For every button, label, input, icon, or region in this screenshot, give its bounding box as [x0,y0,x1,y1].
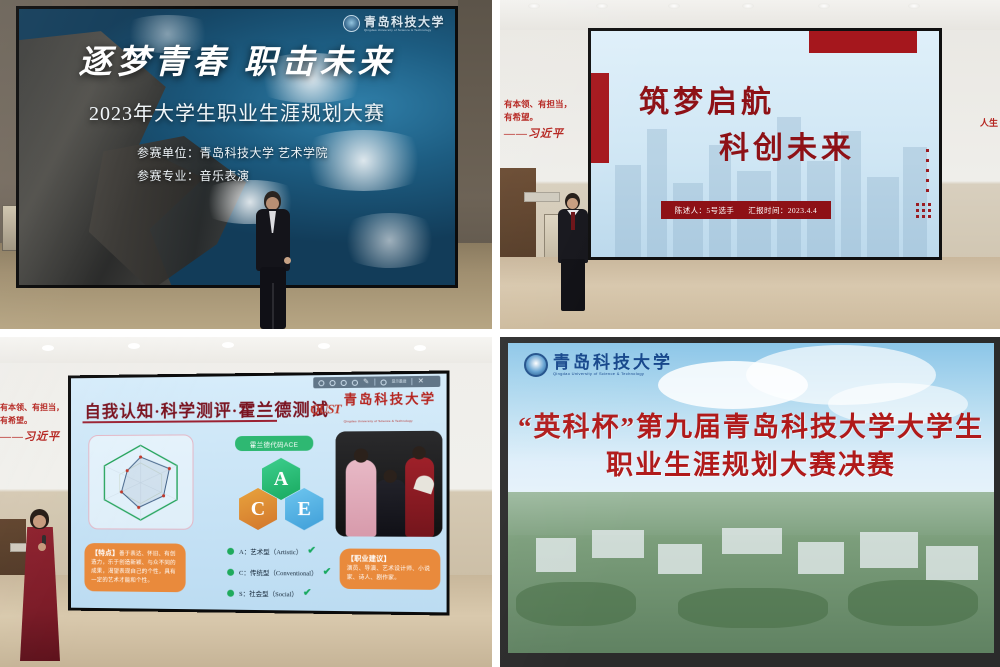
bullet-dot-icon [227,589,234,596]
bullet-dot-icon [227,547,234,554]
list-item: S：社会型（Social） ✔ [227,588,378,600]
person-face [567,198,578,209]
slide4-title-line1: “英科杯”第九届青岛科技大学大学生 [508,405,994,444]
performer-red [405,457,434,537]
wall-quote-left: 有本领、有担当， 有希望。 ——习近平 [504,98,586,141]
finalists-lineup [508,493,994,653]
performer-pink [346,460,377,537]
career-text: 演员、导演、艺术设计师、小说家、诗人、剧作家。 [347,566,430,582]
wall-quote-line1: 有本领、有担当， [504,99,572,109]
wall-quote-signature: ——习近平 [0,431,70,444]
toolbar-divider [374,379,375,386]
slide1-major-line: 参赛专业：音乐表演 [137,167,250,184]
radar-svg [89,435,192,529]
ace-code-badge: 霍兰德代码ACE [235,436,313,451]
slide3-title: 自我认知·科学测评·霍兰德测试 [84,395,328,422]
decorative-dot-grid [913,149,931,229]
university-crest-icon [524,353,548,377]
traits-box: 【特点】善于表达、怀旧、有创造力，乐于创造新颖、与众不同的成果，渴望表现自己的个… [84,543,185,592]
person-leg-gap [272,283,274,329]
photo-collage: 青岛科技大学 Qingdao University of Science & T… [0,0,1000,667]
ace-hexagon-group: A C E [235,458,327,535]
university-crest-icon [343,15,360,32]
wall-quote-line1: 有本领、有担当， [0,403,64,412]
zoom-out-icon[interactable] [318,380,324,386]
panel-bottom-right[interactable]: 青岛科技大学 Qingdao University of Science & T… [500,337,1000,667]
decorative-red-block-top [809,31,917,53]
slide2-title-line2: 科创未来 [719,123,855,167]
wall-quote-line2: 有希望。 [0,416,32,425]
zoom-in-icon[interactable] [329,380,335,386]
check-icon: ✔ [303,588,311,598]
slide2-speaker: 陈述人：5号选手 [675,205,734,216]
university-logo-slide1: 青岛科技大学 Qingdao University of Science & T… [343,15,445,32]
slide2-info-bar: 陈述人：5号选手 汇报时间：2023.4.4 [661,201,831,219]
performer-dark [376,480,405,537]
panel-top-right[interactable]: 有本领、有担当， 有希望。 ——习近平 人生 筑梦启航 科创未来 [500,0,1000,329]
slide1-subtitle: 2023年大学生职业生涯规划大赛 [19,97,455,126]
university-logo-slide4: 青岛科技大学 Qingdao University of Science & T… [524,353,673,377]
timer-icon[interactable] [380,379,386,385]
panel-bottom-left[interactable]: 有本领、有担当， 有希望。 ——习近平 ✎ 显示墨迹 ✕ 自我认知·科学测评·霍… [0,337,492,667]
toolbar-label: 显示墨迹 [392,379,407,384]
led-screen-4: 青岛科技大学 Qingdao University of Science & T… [508,343,994,653]
panel-top-left[interactable]: 青岛科技大学 Qingdao University of Science & T… [0,0,492,329]
presenter-person-2 [556,193,590,311]
pen-icon[interactable]: ✎ [363,379,369,386]
person-hand [284,257,291,264]
decorative-red-block-left [591,73,609,163]
career-heading: 【职业建议】 [347,555,391,563]
career-advice-box: 【职业建议】演员、导演、艺术设计师、小说家、诗人、剧作家。 [340,549,441,590]
slide1-unit-line: 参赛单位：青岛科技大学 艺术学院 [137,144,328,161]
logo-mark: QUST [310,401,340,417]
logo-text-en: Qingdao University of Science & Technolo… [344,419,413,424]
wall-quote-right: 人生 [980,116,998,129]
person-hand [38,543,46,551]
person-tie [571,212,575,230]
holland-label: S：社会型（Social） [239,588,298,599]
university-logo-slide3: QUST 青岛科技大学 Qingdao University of Scienc… [310,390,436,428]
wall-plate [524,192,560,202]
wall-quote-signature: ——习近平 [504,128,586,141]
check-icon: ✔ [323,568,332,578]
logo-text-cn: 青岛科技大学 [364,16,445,28]
slide2-time: 汇报时间：2023.4.4 [748,205,817,216]
ceiling-lights [500,3,1000,13]
led-screen-1: 青岛科技大学 Qingdao University of Science & T… [16,6,458,288]
fit-icon[interactable] [352,379,358,385]
holland-label: A：艺术型（Artistic） [239,546,302,556]
slide4-title-line2: 职业生涯规划大赛决赛 [508,443,994,482]
check-icon: ✔ [307,546,315,556]
presenter-person-1 [252,191,294,329]
holland-radar-chart [88,434,193,529]
presentation-toolbar[interactable]: ✎ 显示墨迹 ✕ [313,376,440,389]
bullet-dot-icon [227,568,234,575]
logo-text-cn: 青岛科技大学 [344,391,436,407]
logo-text-cn: 青岛科技大学 [553,354,673,371]
presenter-person-3 [18,509,62,661]
wall-quote-line2: 有希望。 [504,112,538,122]
performance-photo [336,431,443,537]
slide1-title: 逐梦青春 职击未来 [19,35,455,83]
holland-label: C：传统型（Conventional） [239,567,318,578]
traits-heading: 【特点】 [91,549,119,557]
close-icon[interactable]: ✕ [418,378,424,385]
person-face [33,515,46,528]
info-icon[interactable] [341,379,347,385]
led-screen-3: ✎ 显示墨迹 ✕ 自我认知·科学测评·霍兰德测试 QUST 青岛科技大学 Qin… [68,370,450,615]
led-screen-2: 筑梦启航 科创未来 陈述人：5号选手 汇报时间：2023.4.4 [588,28,942,260]
ceiling-3 [0,337,492,363]
toolbar-divider [412,378,413,385]
person-legs [561,259,585,311]
slide2-title-line1: 筑梦启航 [639,77,775,121]
wall-quote-left-3: 有本领、有担当， 有希望。 ——习近平 [0,401,70,444]
